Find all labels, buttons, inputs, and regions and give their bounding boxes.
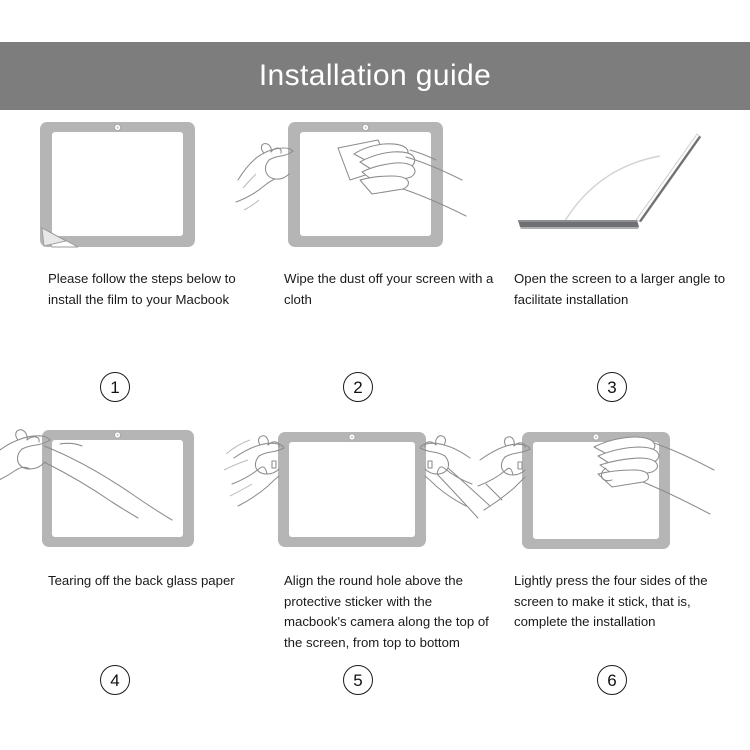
step-panel-6: Lightly press the four sides of the scre… [500, 410, 750, 750]
header-banner: Installation guide [0, 42, 750, 110]
illustration-tablet-peeling-film [0, 110, 250, 260]
steps-grid: Please follow the steps below to install… [0, 110, 750, 750]
step-caption: Lightly press the four sides of the scre… [514, 571, 736, 633]
step-caption: Please follow the steps below to install… [48, 269, 253, 310]
page-title: Installation guide [259, 61, 491, 91]
step-caption: Align the round hole above the protectiv… [284, 571, 496, 653]
illustration-laptop-open-angle [500, 110, 750, 260]
illustration-press-screen-edges [500, 410, 750, 560]
step-panel-1: Please follow the steps below to install… [0, 110, 250, 410]
step-panel-5: Align the round hole above the protectiv… [250, 410, 500, 750]
illustration-tear-back-paper [0, 410, 250, 560]
step-panel-4: Tearing off the back glass paper 4 [0, 410, 250, 750]
step-number-badge: 3 [597, 372, 627, 402]
step-panel-2: Wipe the dust off your screen with a clo… [250, 110, 500, 410]
step-number-badge: 6 [597, 665, 627, 695]
step-caption: Wipe the dust off your screen with a clo… [284, 269, 496, 310]
step-caption: Tearing off the back glass paper [48, 571, 253, 592]
step-number-badge: 1 [100, 372, 130, 402]
step-panel-3: Open the screen to a larger angle to fac… [500, 110, 750, 410]
illustration-align-film-two-hands [250, 410, 500, 560]
illustration-wipe-screen-cloth [250, 110, 500, 260]
step-caption: Open the screen to a larger angle to fac… [514, 269, 736, 310]
step-number-badge: 4 [100, 665, 130, 695]
step-number-badge: 5 [343, 665, 373, 695]
step-number-badge: 2 [343, 372, 373, 402]
